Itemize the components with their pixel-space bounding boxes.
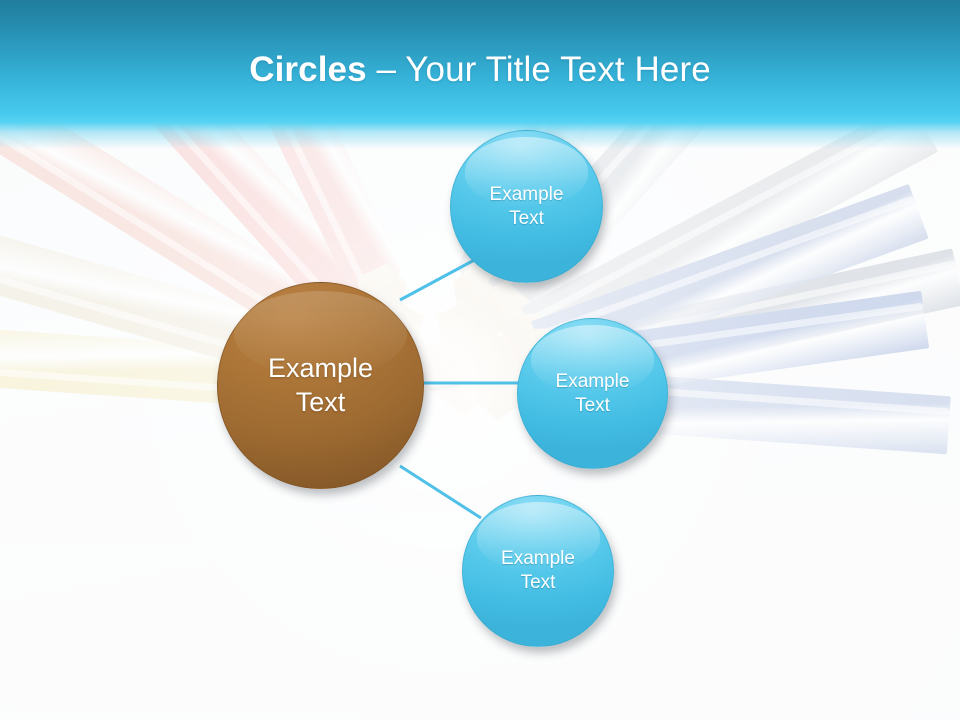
right-node-line2: Text [575, 395, 610, 416]
center-node[interactable]: ExampleText [217, 282, 424, 489]
center-node-label: ExampleText [260, 352, 381, 419]
right-node[interactable]: ExampleText [517, 318, 668, 469]
bottom-node[interactable]: ExampleText [462, 495, 614, 647]
bottom-node-label: ExampleText [493, 547, 583, 594]
top-node[interactable]: ExampleText [450, 130, 603, 283]
right-node-label: ExampleText [548, 370, 638, 417]
center-node-line1: Example [268, 353, 373, 383]
connector-center-to-bottom [400, 466, 481, 518]
connector-center-to-top [400, 258, 478, 300]
right-node-line1: Example [556, 371, 630, 392]
top-node-label: ExampleText [482, 183, 572, 230]
bottom-node-line1: Example [501, 548, 575, 569]
bottom-node-line2: Text [521, 572, 556, 593]
center-node-line2: Text [296, 387, 346, 417]
top-node-line2: Text [509, 208, 544, 229]
top-node-line1: Example [490, 184, 564, 205]
slide-canvas: Circles – Your Title Text Here ExampleTe… [0, 0, 960, 720]
